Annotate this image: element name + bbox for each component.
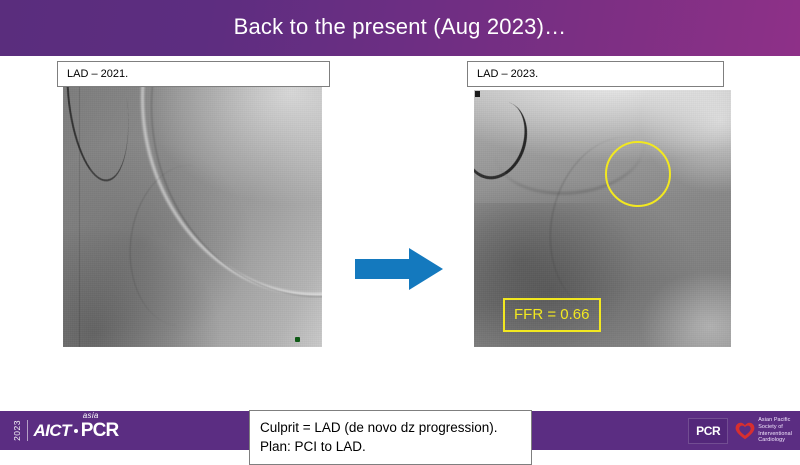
caption-line-plan: Plan: PCI to LAD.	[260, 437, 523, 456]
pcr-badge-logo: PCR	[688, 418, 728, 444]
angiogram-panel-right: LAD – 2023. FFR = 0.66	[467, 61, 740, 347]
caption-line-culprit: Culprit = LAD (de novo dz progression).	[260, 418, 523, 437]
ffr-value-callout: FFR = 0.66	[503, 298, 601, 332]
yellow-circle-lesion-highlight	[605, 141, 671, 207]
progression-arrow-right	[355, 248, 443, 290]
slide-title-bar: Back to the present (Aug 2023)…	[0, 0, 800, 56]
corner-marker-blip	[475, 91, 480, 97]
slide-content-area: LAD – 2021. LAD – 2023. FFR = 0.6	[0, 56, 800, 411]
conclusion-caption-box: Culprit = LAD (de novo dz progression). …	[249, 410, 532, 465]
green-marker-blip	[295, 337, 300, 342]
panel-label-left: LAD – 2021.	[57, 61, 330, 87]
angiogram-image-lad-2021	[63, 87, 322, 347]
angiogram-image-lad-2023: FFR = 0.66	[474, 90, 731, 347]
heart-icon	[735, 422, 755, 440]
angiogram-panel-left: LAD – 2021.	[57, 61, 330, 347]
page-title: Back to the present (Aug 2023)…	[234, 14, 567, 42]
panel-label-right: LAD – 2023.	[467, 61, 724, 87]
image-grain	[63, 87, 322, 347]
footer-logos-right: PCR Asian Pacific Society of Interventio…	[688, 411, 792, 450]
apsic-society-logo: Asian Pacific Society of Interventional …	[735, 417, 792, 445]
apsic-society-name: Asian Pacific Society of Interventional …	[758, 417, 792, 445]
